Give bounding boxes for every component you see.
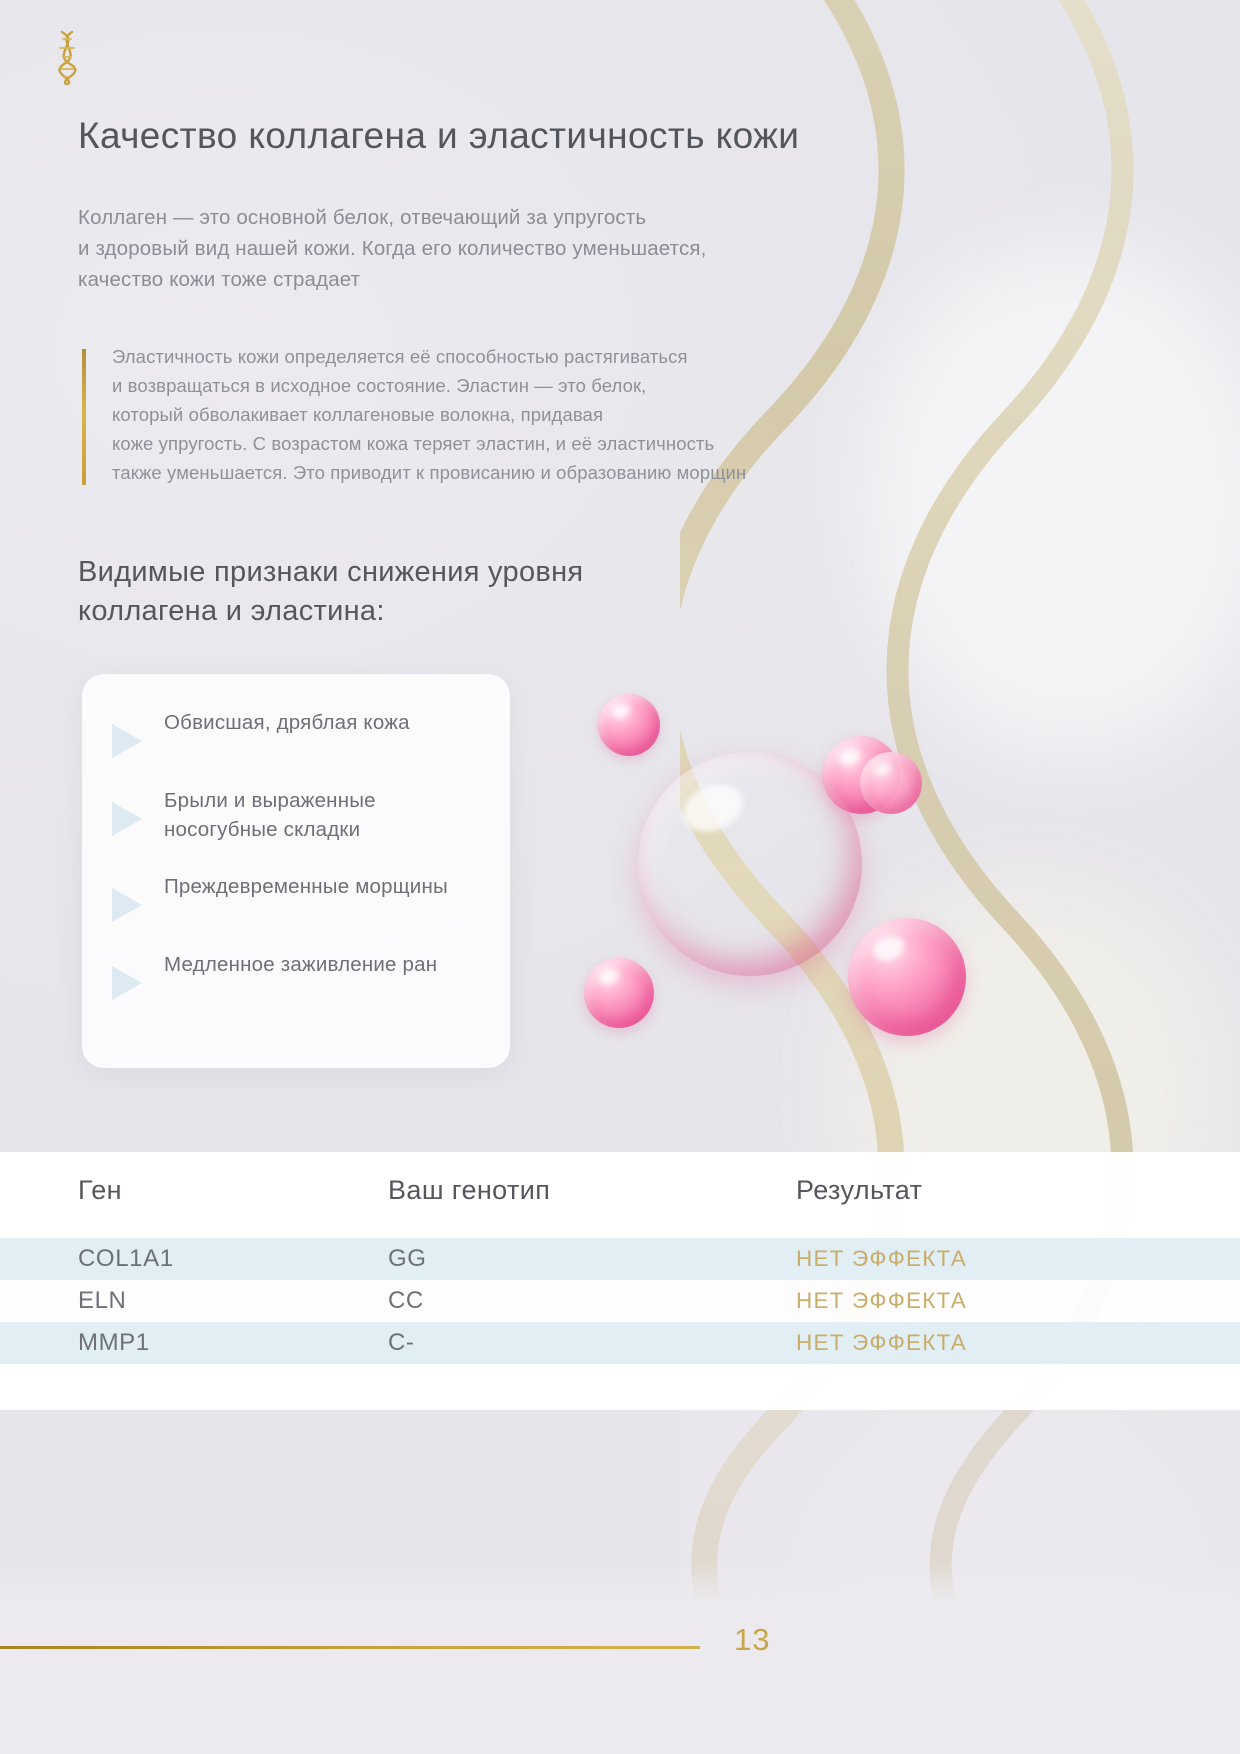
section-heading-line: коллагена и эластина: — [78, 595, 385, 627]
list-item-label: Брыли и выраженные носогубные складки — [164, 786, 464, 844]
quote-text: Эластичность кожи определяется её способ… — [112, 343, 982, 487]
cell-result: НЕТ ЭФФЕКТА — [796, 1246, 1156, 1272]
cell-genotype: GG — [388, 1245, 796, 1273]
quote-accent-bar — [82, 349, 86, 485]
cell-result: НЕТ ЭФФЕКТА — [796, 1288, 1156, 1314]
list-item: Преждевременные морщины — [112, 872, 480, 922]
table-footer-band — [0, 1364, 1240, 1410]
table-row: COL1A1 GG НЕТ ЭФФЕКТА — [0, 1238, 1240, 1280]
cell-gene: ELN — [78, 1287, 388, 1315]
visible-signs-card: Обвисшая, дряблая кожа Брыли и выраженны… — [82, 674, 510, 1068]
quote-line: коже упругость. С возрастом кожа теряет … — [112, 430, 982, 459]
intro-line: качество кожи тоже страдает — [78, 264, 1038, 295]
quote-line: и возвращаться в исходное состояние. Эла… — [112, 372, 982, 401]
quote-line: Эластичность кожи определяется её способ… — [112, 343, 982, 372]
table-row: MMP1 C- НЕТ ЭФФЕКТА — [0, 1322, 1240, 1364]
list-item-label: Преждевременные морщины — [164, 872, 448, 901]
triangle-bullet-icon — [112, 966, 142, 1000]
triangle-bullet-icon — [112, 888, 142, 922]
section-heading: Видимые признаки снижения уровня коллаге… — [78, 553, 838, 630]
list-item-label: Обвисшая, дряблая кожа — [164, 708, 410, 737]
intro-line: Коллаген — это основной белок, отвечающи… — [78, 202, 1038, 233]
section-heading-line: Видимые признаки снижения уровня — [78, 556, 583, 588]
cell-genotype: CC — [388, 1287, 796, 1315]
cell-genotype: C- — [388, 1329, 796, 1357]
quote-block: Эластичность кожи определяется её способ… — [82, 343, 982, 487]
footer-rule — [0, 1646, 700, 1649]
list-item: Медленное заживление ран — [112, 950, 480, 1000]
list-item: Брыли и выраженные носогубные складки — [112, 786, 480, 844]
cell-gene: MMP1 — [78, 1329, 388, 1357]
table-row: ELN CC НЕТ ЭФФЕКТА — [0, 1280, 1240, 1322]
triangle-bullet-icon — [112, 724, 142, 758]
column-header-gene: Ген — [78, 1175, 388, 1206]
intro-line: и здоровый вид нашей кожи. Когда его кол… — [78, 233, 1038, 264]
quote-line: который обволакивает коллагеновые волокн… — [112, 401, 982, 430]
list-item-label: Медленное заживление ран — [164, 950, 437, 979]
table-divider — [0, 1228, 1240, 1238]
page-number: 13 — [734, 1622, 770, 1658]
page-title: Качество коллагена и эластичность кожи — [78, 114, 1038, 158]
genetics-results-table: Ген Ваш генотип Результат COL1A1 GG НЕТ … — [0, 1152, 1240, 1410]
column-header-genotype: Ваш генотип — [388, 1175, 796, 1206]
quote-line: также уменьшается. Это приводит к провис… — [112, 459, 982, 488]
cell-gene: COL1A1 — [78, 1245, 388, 1273]
triangle-bullet-icon — [112, 802, 142, 836]
intro-paragraph: Коллаген — это основной белок, отвечающи… — [78, 202, 1038, 295]
list-item: Обвисшая, дряблая кожа — [112, 708, 480, 758]
main-content: Качество коллагена и эластичность кожи К… — [78, 0, 1038, 630]
cell-result: НЕТ ЭФФЕКТА — [796, 1330, 1156, 1356]
column-header-result: Результат — [796, 1175, 1156, 1206]
document-page: Качество коллагена и эластичность кожи К… — [0, 0, 1240, 1754]
table-header-row: Ген Ваш генотип Результат — [0, 1152, 1240, 1228]
